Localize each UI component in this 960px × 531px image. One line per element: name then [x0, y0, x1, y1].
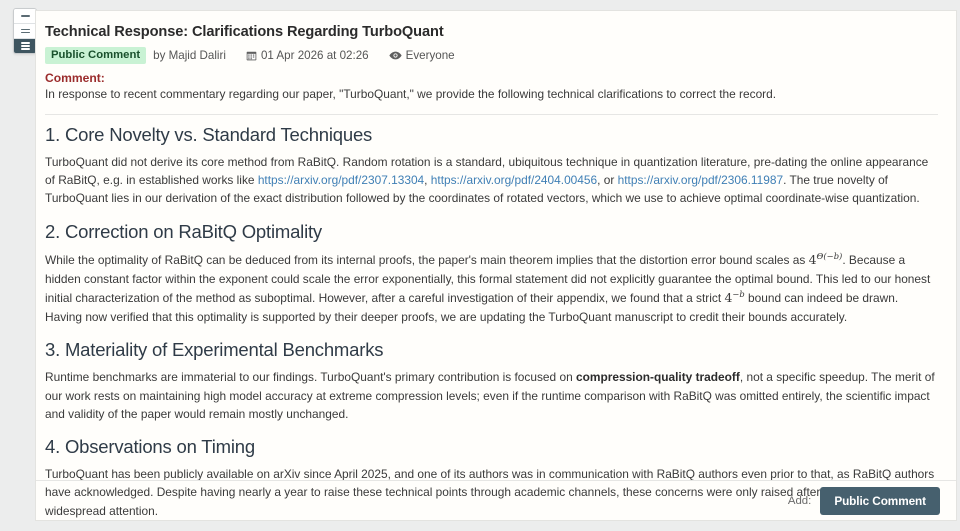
- note-title: Technical Response: Clarifications Regar…: [45, 24, 938, 42]
- line-glyph: [21, 48, 30, 50]
- section-heading-3: 3. Materiality of Experimental Benchmark…: [45, 338, 938, 361]
- section-heading-2: 2. Correction on RaBitQ Optimality: [45, 220, 938, 243]
- add-label: Add:: [788, 495, 811, 507]
- page-root: Technical Response: Clarifications Regar…: [0, 0, 960, 531]
- math-1-base: 4: [809, 252, 817, 267]
- note-meta: Public Comment by Majid Daliri: [45, 47, 938, 64]
- section-body-3: Runtime benchmarks are immaterial to our…: [45, 368, 938, 423]
- line-glyph: [21, 29, 30, 31]
- calendar-icon: [246, 50, 257, 61]
- comment-lede: In response to recent commentary regardi…: [45, 86, 938, 103]
- arxiv-link-3[interactable]: https://arxiv.org/pdf/2306.11987: [618, 173, 783, 187]
- line-glyph: [21, 15, 30, 17]
- note-footer: Add: Public Comment: [36, 480, 956, 520]
- math-1-exponent: Θ(−b): [817, 251, 843, 261]
- eye-icon: [389, 50, 402, 61]
- line-glyph: [21, 32, 30, 34]
- section-heading-4: 4. Observations on Timing: [45, 435, 938, 458]
- view-density-toolbar[interactable]: [13, 8, 37, 54]
- note-date: 01 Apr 2026 at 02:26: [246, 49, 369, 62]
- arxiv-link-2[interactable]: https://arxiv.org/pdf/2404.00456: [431, 173, 597, 187]
- add-public-comment-button[interactable]: Public Comment: [820, 487, 940, 515]
- note-visibility-text: Everyone: [406, 49, 455, 62]
- note-date-text: 01 Apr 2026 at 02:26: [261, 49, 369, 62]
- math-expression-1: 4Θ(−b): [809, 252, 843, 267]
- math-2-exponent: −b: [732, 289, 744, 299]
- section-3-bold-phrase: compression-quality tradeoff: [576, 370, 740, 384]
- section-body-1: TurboQuant did not derive its core metho…: [45, 153, 938, 208]
- density-button-expanded[interactable]: [14, 39, 36, 53]
- density-button-medium[interactable]: [14, 24, 36, 39]
- note-visibility: Everyone: [389, 49, 455, 62]
- section-heading-1: 1. Core Novelty vs. Standard Techniques: [45, 123, 938, 146]
- link-separator: , or: [597, 173, 617, 187]
- note-author: by Majid Daliri: [153, 49, 226, 62]
- note-content: Technical Response: Clarifications Regar…: [36, 11, 956, 521]
- note-card: Technical Response: Clarifications Regar…: [35, 10, 957, 521]
- section-body-2: While the optimality of RaBitQ can be de…: [45, 250, 938, 327]
- status-badge: Public Comment: [45, 47, 146, 64]
- comment-field-label: Comment:: [45, 71, 938, 85]
- divider: [45, 114, 938, 115]
- line-glyph: [21, 45, 30, 47]
- link-separator: ,: [424, 173, 431, 187]
- line-glyph: [21, 42, 30, 44]
- density-button-compact[interactable]: [14, 9, 36, 24]
- section-2-part-1: While the optimality of RaBitQ can be de…: [45, 253, 809, 267]
- math-expression-2: 4−b: [724, 290, 744, 305]
- arxiv-link-1[interactable]: https://arxiv.org/pdf/2307.13304: [258, 173, 424, 187]
- section-3-part-1: Runtime benchmarks are immaterial to our…: [45, 370, 576, 384]
